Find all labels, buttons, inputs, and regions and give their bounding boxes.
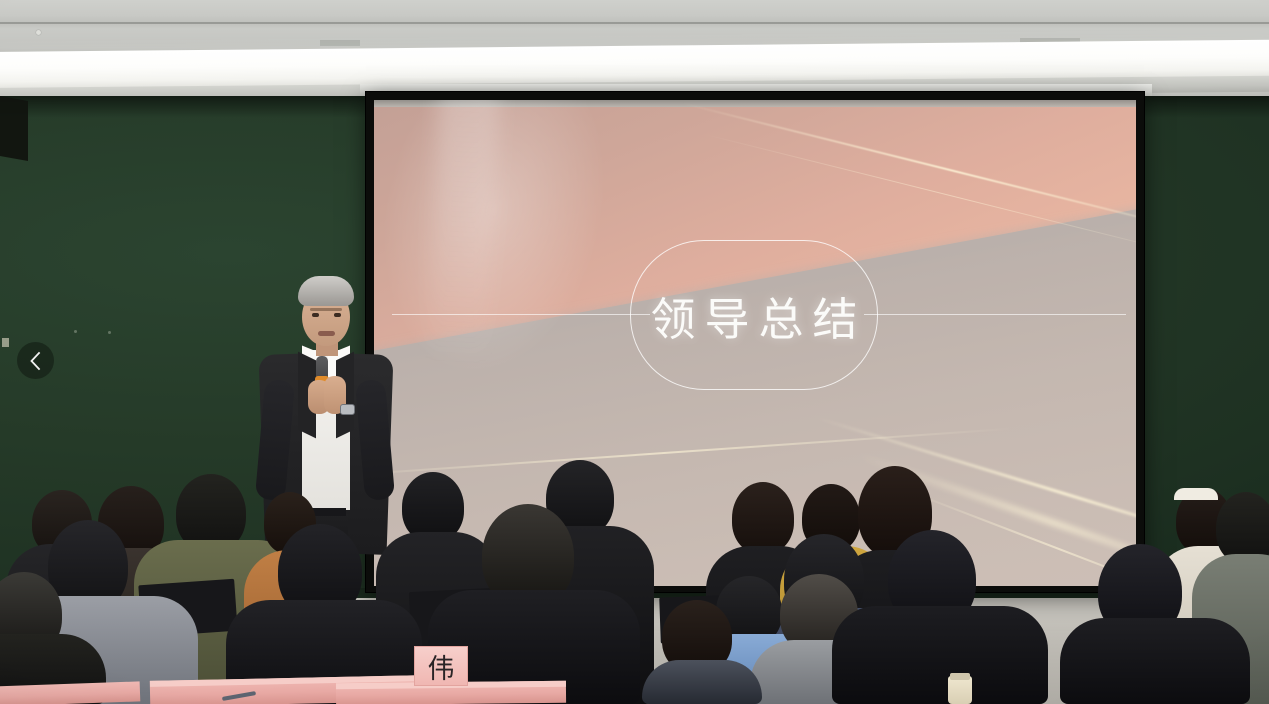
wall-marking xyxy=(74,330,77,333)
bottle-cap xyxy=(950,673,970,680)
chevron-left-icon xyxy=(28,351,43,371)
presenter-eye xyxy=(312,313,319,317)
ceiling-vent xyxy=(320,40,360,46)
presenter-mouth xyxy=(318,331,335,336)
torso xyxy=(1060,618,1250,704)
slide-title: 领导总结 xyxy=(641,283,866,348)
presenter-eye xyxy=(334,313,341,317)
water-bottle xyxy=(948,676,972,704)
wall-label xyxy=(2,338,9,347)
table-far-left xyxy=(0,681,140,704)
ceiling-screw xyxy=(36,30,41,35)
presenter-hair xyxy=(298,276,354,306)
headband xyxy=(1174,488,1218,500)
name-placard: 伟 xyxy=(414,646,468,686)
torso xyxy=(832,606,1048,704)
slide-rule-left xyxy=(392,314,650,315)
slide-rule-right xyxy=(864,314,1126,315)
wall-speaker-box xyxy=(0,95,28,161)
wristwatch xyxy=(340,404,355,415)
torso xyxy=(642,660,762,704)
audience: 伟 xyxy=(0,444,1269,704)
presenter-brow xyxy=(310,308,342,311)
placard-text: 伟 xyxy=(428,647,455,686)
conference-photo: 领导总结 xyxy=(0,0,1269,704)
slide-title-pill: 领导总结 xyxy=(630,240,878,390)
head xyxy=(732,482,794,554)
wall-marking xyxy=(108,331,111,334)
ceiling-seam xyxy=(0,22,1269,24)
carousel-prev-button[interactable] xyxy=(17,342,54,379)
